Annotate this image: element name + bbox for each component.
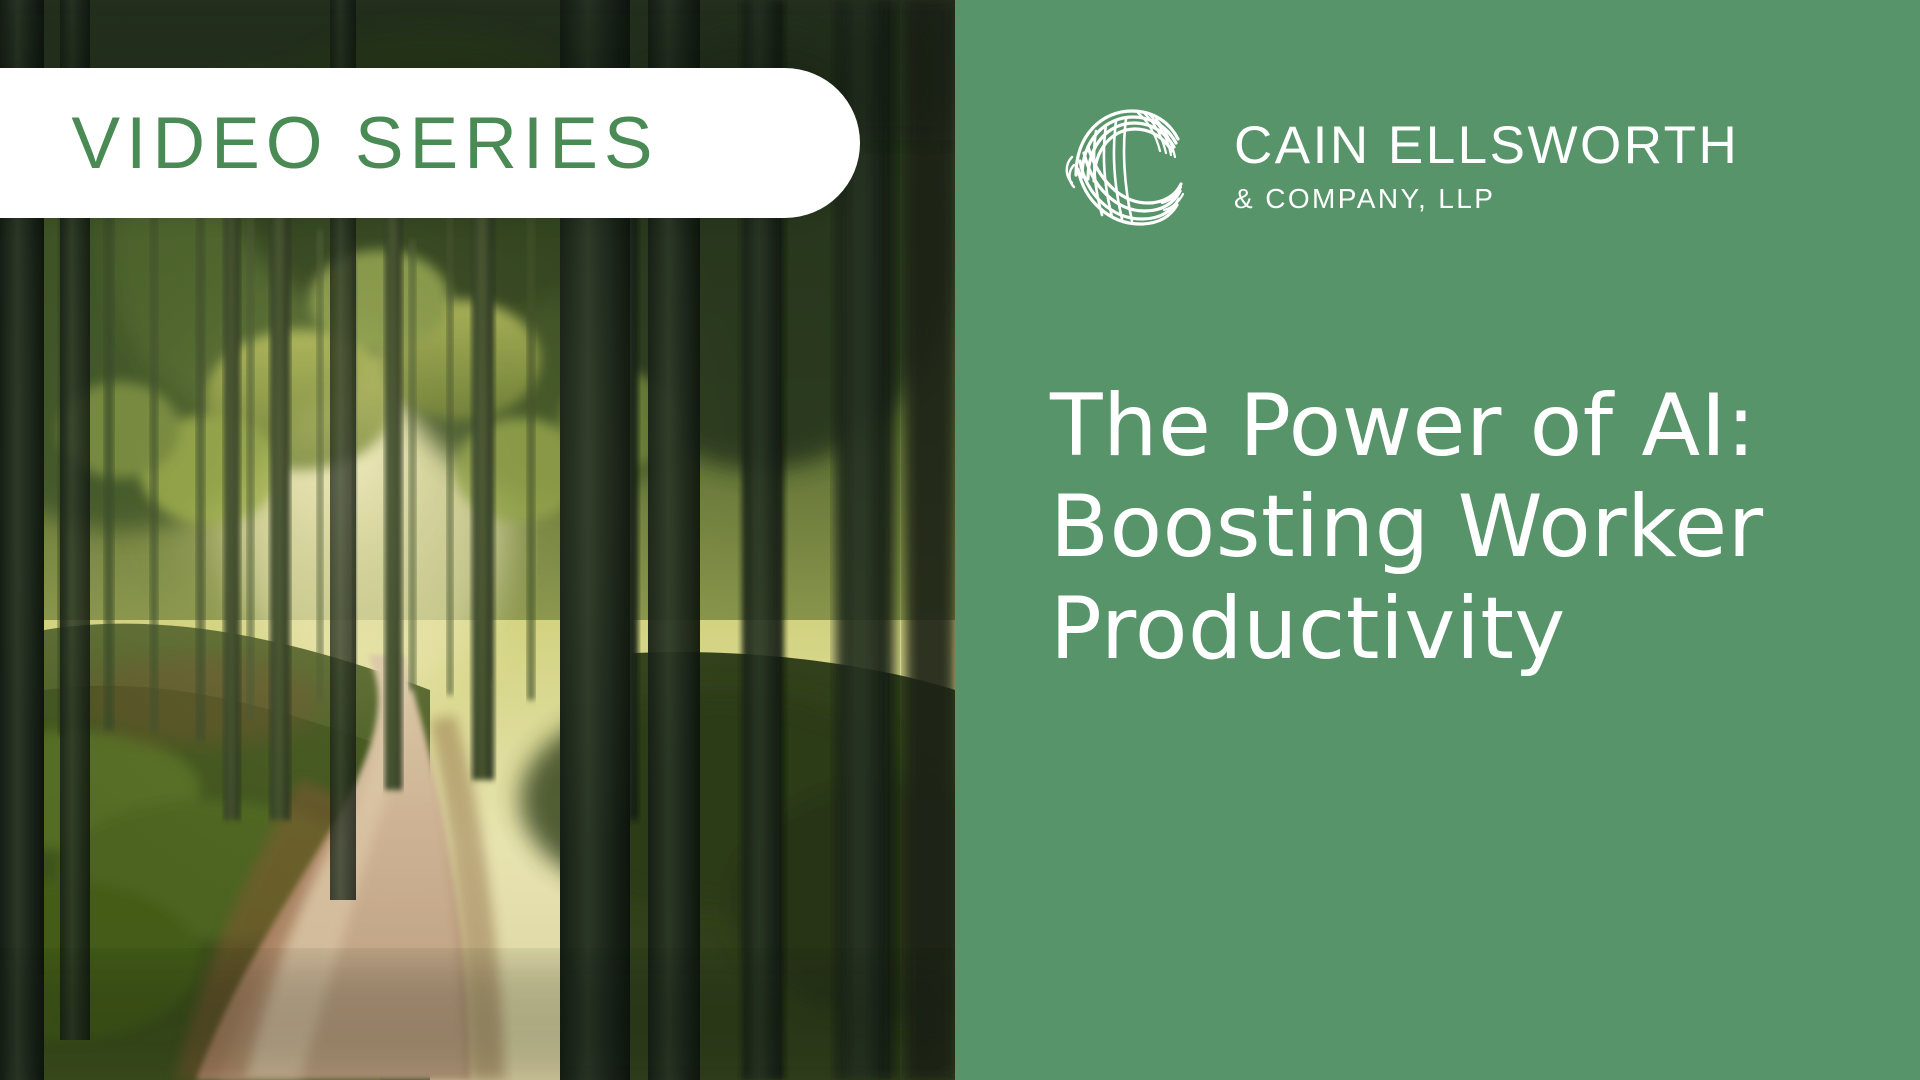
video-series-badge-label: VIDEO SERIES	[71, 102, 658, 185]
page-title-line-2: Boosting Worker	[1050, 477, 1830, 578]
brand-lockup: CAIN ELLSWORTH & COMPANY, LLP	[1050, 86, 1840, 246]
video-series-badge: VIDEO SERIES	[0, 68, 860, 218]
content-panel: CAIN ELLSWORTH & COMPANY, LLP The Power …	[955, 0, 1920, 1080]
page-title-line-1: The Power of AI:	[1050, 376, 1830, 477]
page-title: The Power of AI: Boosting Worker Product…	[1050, 376, 1830, 680]
brand-text-block: CAIN ELLSWORTH & COMPANY, LLP	[1234, 115, 1739, 217]
cain-ellsworth-woven-circle-logo-icon	[1050, 91, 1200, 241]
brand-subtitle: & COMPANY, LLP	[1234, 181, 1739, 217]
page-title-line-3: Productivity	[1050, 579, 1830, 680]
forest-photo-panel: VIDEO SERIES	[0, 0, 955, 1080]
brand-name: CAIN ELLSWORTH	[1234, 119, 1739, 173]
video-series-title-slide: VIDEO SERIES	[0, 0, 1920, 1080]
